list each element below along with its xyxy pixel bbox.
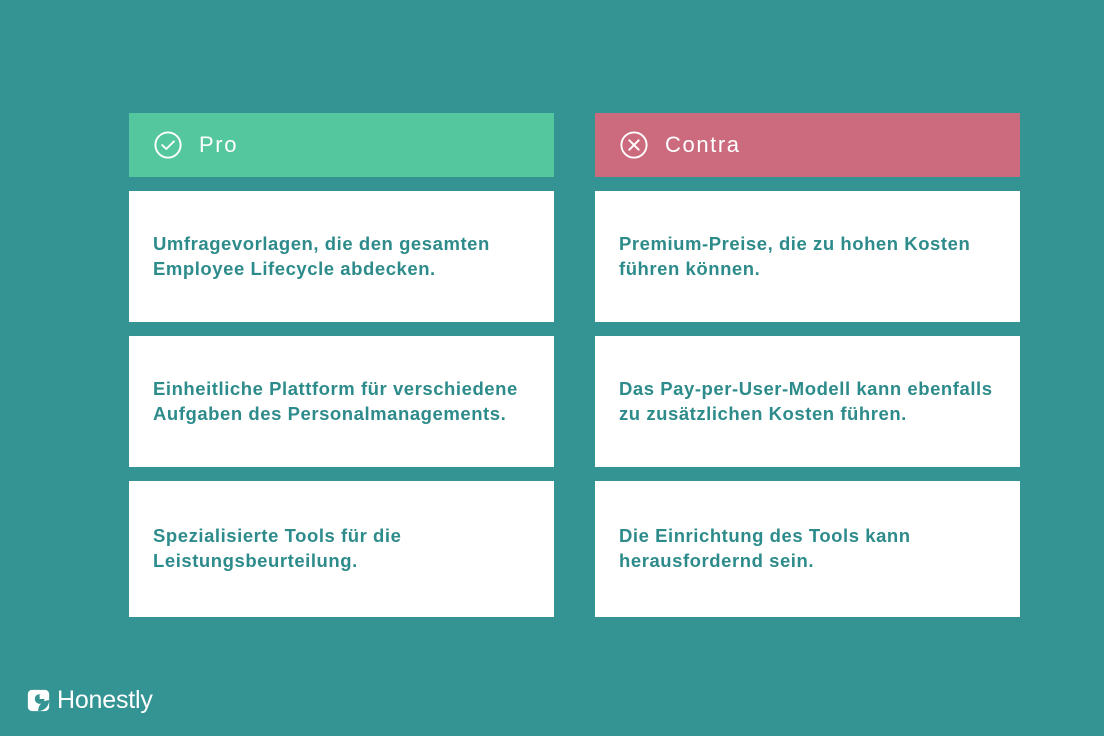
pro-card-1-text: Umfragevorlagen, die den gesamten Employ… xyxy=(153,232,530,281)
pro-column-header: Pro xyxy=(129,113,554,177)
contra-card-2-text: Das Pay-per-User-Modell kann ebenfalls z… xyxy=(619,377,996,426)
contra-column-header: Contra xyxy=(595,113,1020,177)
pro-card-3: Spezialisierte Tools für die Leistungsbe… xyxy=(129,481,554,617)
pro-column: Pro Umfragevorlagen, die den gesamten Em… xyxy=(129,113,554,617)
x-circle-icon xyxy=(619,130,649,160)
brand-logo: Honestly xyxy=(27,688,153,713)
pro-column-label: Pro xyxy=(199,134,238,156)
pro-card-2: Einheitliche Plattform für verschiedene … xyxy=(129,336,554,467)
check-circle-icon xyxy=(153,130,183,160)
pro-contra-board: Pro Umfragevorlagen, die den gesamten Em… xyxy=(129,113,1020,617)
contra-column-label: Contra xyxy=(665,134,741,156)
pro-card-1: Umfragevorlagen, die den gesamten Employ… xyxy=(129,191,554,322)
contra-card-2: Das Pay-per-User-Modell kann ebenfalls z… xyxy=(595,336,1020,467)
pro-card-3-text: Spezialisierte Tools für die Leistungsbe… xyxy=(153,524,530,573)
contra-column: Contra Premium-Preise, die zu hohen Kost… xyxy=(595,113,1020,617)
contra-card-3: Die Einrichtung des Tools kann herausfor… xyxy=(595,481,1020,617)
contra-card-1: Premium-Preise, die zu hohen Kosten führ… xyxy=(595,191,1020,322)
honestly-logo-mark-icon xyxy=(27,689,50,712)
brand-name: Honestly xyxy=(57,688,153,713)
pro-card-2-text: Einheitliche Plattform für verschiedene … xyxy=(153,377,530,426)
contra-card-1-text: Premium-Preise, die zu hohen Kosten führ… xyxy=(619,232,996,281)
contra-card-3-text: Die Einrichtung des Tools kann herausfor… xyxy=(619,524,996,573)
